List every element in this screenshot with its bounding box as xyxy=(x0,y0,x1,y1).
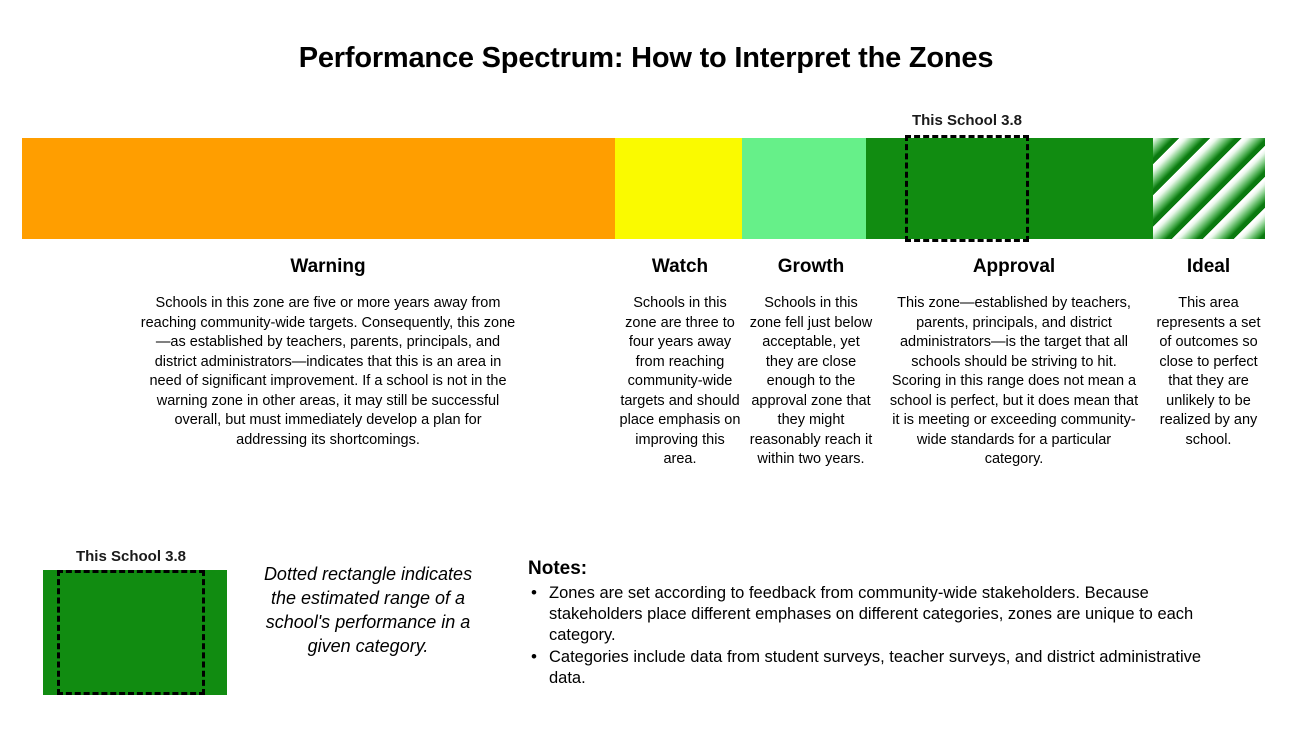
zone-column-watch: Watch Schools in this zone are three to … xyxy=(618,256,742,470)
zone-description-warning: Schools in this zone are five or more ye… xyxy=(140,294,516,450)
notes-heading: Notes: xyxy=(528,558,1238,580)
this-school-marker-label: This School 3.8 xyxy=(905,112,1029,129)
bullet-icon: • xyxy=(531,646,537,667)
zone-label-warning: Warning xyxy=(140,256,516,278)
zone-column-warning: Warning Schools in this zone are five or… xyxy=(140,256,516,450)
zone-band-growth[interactable] xyxy=(742,138,866,239)
zone-description-growth: Schools in this zone fell just below acc… xyxy=(749,294,873,470)
page-title: Performance Spectrum: How to Interpret t… xyxy=(0,42,1292,75)
notes-list-item: • Categories include data from student s… xyxy=(528,647,1238,689)
notes-list: • Zones are set according to feedback fr… xyxy=(528,583,1238,689)
zone-column-ideal: Ideal This area represents a set of outc… xyxy=(1156,256,1261,450)
zone-label-watch: Watch xyxy=(618,256,742,278)
legend-dashed-rectangle xyxy=(57,570,205,695)
bullet-icon: • xyxy=(531,582,537,603)
zone-description-watch: Schools in this zone are three to four y… xyxy=(618,294,742,470)
zone-band-watch[interactable] xyxy=(615,138,742,239)
zone-column-growth: Growth Schools in this zone fell just be… xyxy=(749,256,873,470)
zone-label-approval: Approval xyxy=(888,256,1140,278)
zone-band-ideal[interactable] xyxy=(1153,138,1265,239)
legend-caption: Dotted rectangle indicates the estimated… xyxy=(262,562,474,658)
notes-item-text: Zones are set according to feedback from… xyxy=(549,584,1193,644)
zone-label-growth: Growth xyxy=(749,256,873,278)
zone-description-ideal: This area represents a set of outcomes s… xyxy=(1156,294,1261,450)
this-school-marker-box[interactable] xyxy=(905,135,1029,242)
notes-list-item: • Zones are set according to feedback fr… xyxy=(528,583,1238,646)
zone-description-approval: This zone—established by teachers, paren… xyxy=(888,294,1140,470)
legend-marker-label: This School 3.8 xyxy=(57,548,205,565)
zone-column-approval: Approval This zone—established by teache… xyxy=(888,256,1140,470)
notes-item-text: Categories include data from student sur… xyxy=(549,648,1201,687)
performance-spectrum-bar xyxy=(22,138,1265,239)
zone-band-warning[interactable] xyxy=(22,138,615,239)
zone-label-ideal: Ideal xyxy=(1156,256,1261,278)
notes-section: Notes: • Zones are set according to feed… xyxy=(528,558,1238,690)
